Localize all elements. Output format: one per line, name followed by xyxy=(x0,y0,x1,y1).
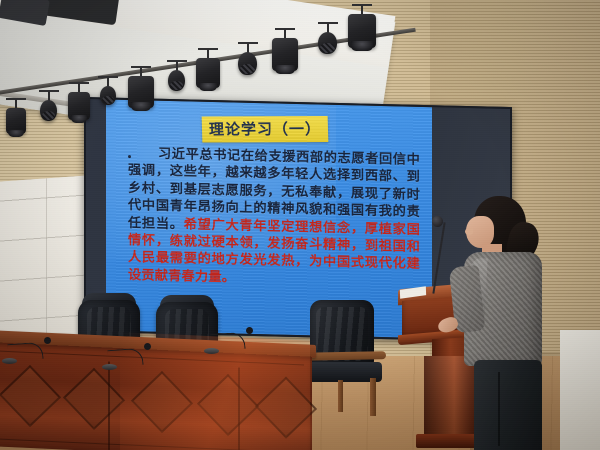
light-lens xyxy=(351,41,372,51)
table-microphone-1 xyxy=(8,340,48,360)
stage-light-7 xyxy=(196,58,220,88)
table-microphone-3 xyxy=(210,330,250,350)
light-lens xyxy=(199,83,217,91)
stage-light-8 xyxy=(238,52,257,75)
podium-mic-head xyxy=(432,216,443,227)
mic-gooseneck xyxy=(209,332,245,351)
stage-light-3 xyxy=(68,92,90,120)
table-diamond-inlay xyxy=(63,368,125,430)
slide-title-banner: 理论学习（一） xyxy=(202,116,329,143)
table-diamond-inlay xyxy=(131,371,193,433)
mic-gooseneck xyxy=(7,342,43,361)
table-panel-line xyxy=(0,439,304,450)
right-wall-panel xyxy=(560,330,600,450)
mic-head xyxy=(246,327,253,334)
presenter-trousers xyxy=(474,360,542,450)
mic-head xyxy=(44,337,51,344)
stage-light-5 xyxy=(128,76,154,108)
armchair-leg-right xyxy=(370,378,376,416)
table-panel-divider xyxy=(108,362,110,450)
light-lens xyxy=(240,64,255,74)
table-panel-divider xyxy=(238,367,240,450)
table-diamond-inlay xyxy=(255,377,317,439)
light-lens xyxy=(71,115,88,123)
mic-gooseneck xyxy=(107,348,143,367)
table-microphone-2 xyxy=(108,346,148,366)
mic-head xyxy=(144,343,151,350)
presenter xyxy=(452,196,558,450)
light-lens xyxy=(275,65,295,74)
stage-light-4 xyxy=(100,86,116,105)
stage-light-9 xyxy=(272,38,298,71)
stage-light-11 xyxy=(348,14,376,48)
podium-mic-stalk xyxy=(432,222,445,293)
stage-light-1 xyxy=(6,108,26,134)
presenter-nose xyxy=(465,228,473,235)
table-diamond-inlay xyxy=(197,374,259,436)
table-diamond-inlay xyxy=(0,365,61,427)
conference-hall-screenshot: 理论学习（一） 习近平总书记在给支援西部的志愿者回信中强调，这些年，越来越多年轻… xyxy=(0,0,600,450)
slide-body-text: 习近平总书记在给支援西部的志愿者回信中强调，这些年，越来越多年轻人选择到西部、到… xyxy=(128,144,420,290)
stage-light-2 xyxy=(40,100,57,121)
stage-light-6 xyxy=(168,70,185,91)
light-lens xyxy=(131,102,151,111)
armchair-leg-mid xyxy=(338,380,343,412)
presenter-leg-seam xyxy=(498,372,500,446)
light-lens xyxy=(8,130,23,137)
stage-light-10 xyxy=(318,32,337,54)
